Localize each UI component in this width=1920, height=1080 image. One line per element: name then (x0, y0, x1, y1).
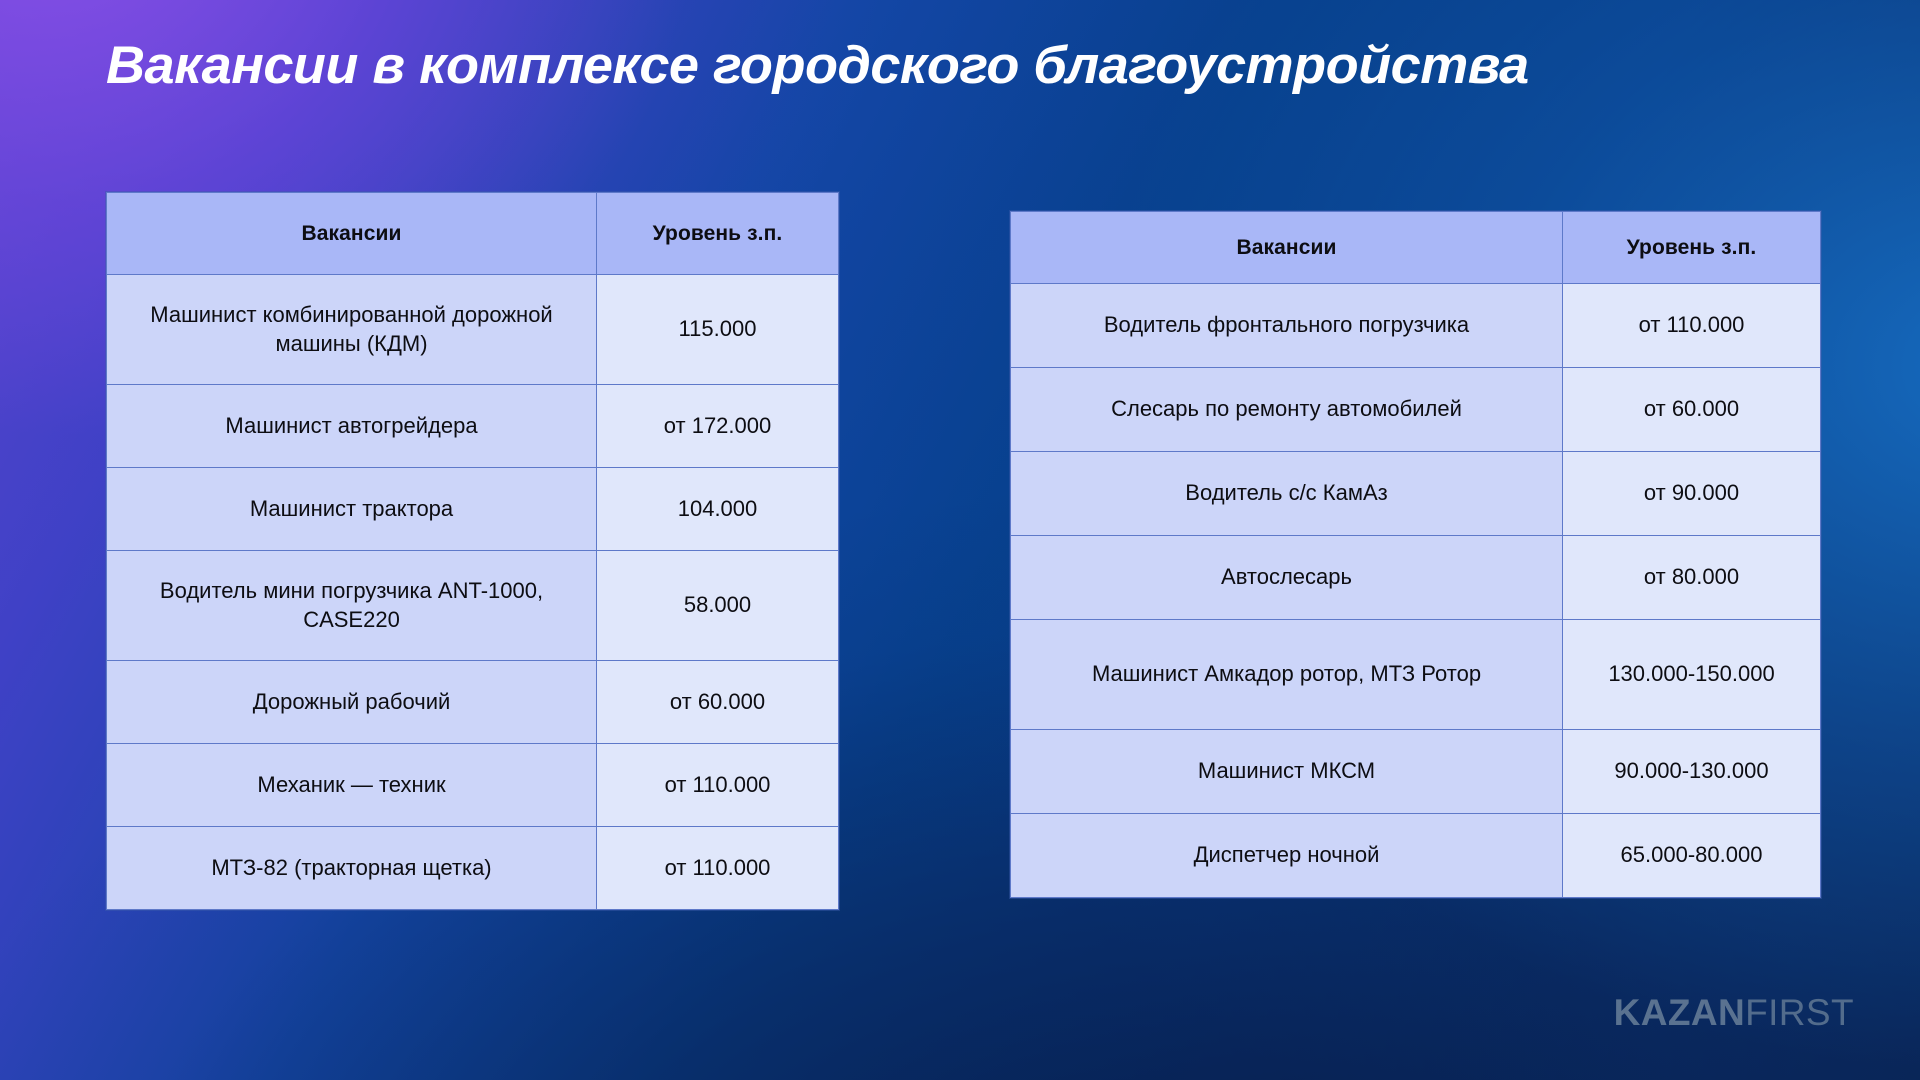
table-body: Машинист комбинированной дорожной машины… (107, 275, 839, 910)
table-row: Машинист Амкадор ротор, МТЗ Ротор130.000… (1011, 620, 1821, 730)
table-row: Машинист МКСМ90.000-130.000 (1011, 730, 1821, 814)
cell-job-title: Водитель с/с КамАз (1011, 452, 1563, 536)
cell-job-title: Водитель фронтального погрузчика (1011, 284, 1563, 368)
table-row: Водитель с/с КамАзот 90.000 (1011, 452, 1821, 536)
cell-job-title: Слесарь по ремонту автомобилей (1011, 368, 1563, 452)
cell-salary-level: 130.000-150.000 (1563, 620, 1821, 730)
cell-job-title: Дорожный рабочий (107, 661, 597, 744)
cell-salary-level: от 80.000 (1563, 536, 1821, 620)
table-row: Дорожный рабочийот 60.000 (107, 661, 839, 744)
table-row: Диспетчер ночной65.000-80.000 (1011, 814, 1821, 898)
cell-salary-level: от 110.000 (597, 744, 839, 827)
column-header-job: Вакансии (1011, 212, 1563, 284)
table-row: МТЗ-82 (тракторная щетка)от 110.000 (107, 827, 839, 910)
cell-job-title: Механик — техник (107, 744, 597, 827)
page-title: Вакансии в комплексе городского благоуст… (106, 36, 1901, 95)
cell-job-title: Машинист комбинированной дорожной машины… (107, 275, 597, 385)
cell-salary-level: от 60.000 (597, 661, 839, 744)
cell-salary-level: от 172.000 (597, 385, 839, 468)
cell-salary-level: 65.000-80.000 (1563, 814, 1821, 898)
logo-lead-text: KAZAN (1614, 992, 1745, 1033)
table-row: Слесарь по ремонту автомобилейот 60.000 (1011, 368, 1821, 452)
table-row: Машинист автогрейдераот 172.000 (107, 385, 839, 468)
cell-job-title: Машинист Амкадор ротор, МТЗ Ротор (1011, 620, 1563, 730)
cell-salary-level: от 110.000 (597, 827, 839, 910)
table-row: Машинист трактора104.000 (107, 468, 839, 551)
table-row: Машинист комбинированной дорожной машины… (107, 275, 839, 385)
infographic-canvas: Вакансии в комплексе городского благоуст… (0, 0, 1920, 1080)
cell-job-title: МТЗ-82 (тракторная щетка) (107, 827, 597, 910)
table-body: Водитель фронтального погрузчикаот 110.0… (1011, 284, 1821, 898)
cell-salary-level: 58.000 (597, 551, 839, 661)
column-header-job: Вакансии (107, 193, 597, 275)
cell-job-title: Машинист автогрейдера (107, 385, 597, 468)
cell-job-title: Диспетчер ночной (1011, 814, 1563, 898)
logo-tail-text: FIRST (1745, 992, 1854, 1033)
table-row: Водитель мини погрузчика ANT-1000, CASE2… (107, 551, 839, 661)
cell-job-title: Автослесарь (1011, 536, 1563, 620)
cell-job-title: Машинист трактора (107, 468, 597, 551)
cell-salary-level: от 90.000 (1563, 452, 1821, 536)
cell-job-title: Машинист МКСМ (1011, 730, 1563, 814)
kazanfirst-logo: KAZANFIRST (1614, 992, 1854, 1034)
cell-salary-level: от 110.000 (1563, 284, 1821, 368)
cell-salary-level: 104.000 (597, 468, 839, 551)
cell-job-title: Водитель мини погрузчика ANT-1000, CASE2… (107, 551, 597, 661)
column-header-pay: Уровень з.п. (1563, 212, 1821, 284)
table-header-row: Вакансии Уровень з.п. (1011, 212, 1821, 284)
vacancies-table-left: Вакансии Уровень з.п. Машинист комбиниро… (106, 192, 839, 910)
column-header-pay: Уровень з.п. (597, 193, 839, 275)
table-header-row: Вакансии Уровень з.п. (107, 193, 839, 275)
cell-salary-level: от 60.000 (1563, 368, 1821, 452)
vacancies-table-right: Вакансии Уровень з.п. Водитель фронтальн… (1010, 211, 1821, 898)
cell-salary-level: 90.000-130.000 (1563, 730, 1821, 814)
cell-salary-level: 115.000 (597, 275, 839, 385)
table-row: Автослесарьот 80.000 (1011, 536, 1821, 620)
table-row: Водитель фронтального погрузчикаот 110.0… (1011, 284, 1821, 368)
table-row: Механик — техникот 110.000 (107, 744, 839, 827)
